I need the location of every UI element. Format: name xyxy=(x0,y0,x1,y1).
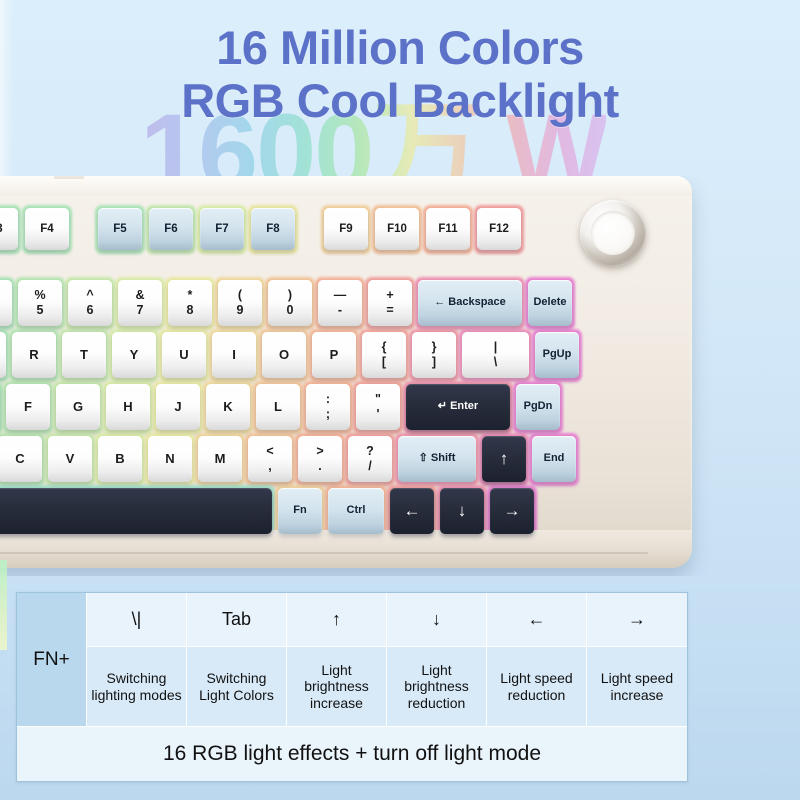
key-y[interactable]: Y xyxy=(112,332,156,378)
key-f8[interactable]: F8 xyxy=(251,208,295,250)
fn-key-arrow-up: ↑ xyxy=(287,593,387,647)
key-minus[interactable]: —- xyxy=(318,280,362,326)
key-equals[interactable]: += xyxy=(368,280,412,326)
key-f9[interactable]: F9 xyxy=(324,208,368,250)
keyboard-case: F3 F4 F5 F6 F7 F8 F9 F10 F11 F12 $4 %5 ^… xyxy=(0,176,692,568)
fn-desc-light-colors: Switching Light Colors xyxy=(187,647,287,727)
key-legend-bottom: = xyxy=(386,304,393,317)
key-end[interactable]: End xyxy=(532,436,576,482)
key-legend-bottom: 8 xyxy=(187,304,194,317)
key-0[interactable]: )0 xyxy=(268,280,312,326)
key-v[interactable]: V xyxy=(48,436,92,482)
key-f3[interactable]: F3 xyxy=(0,208,18,250)
case-top-lip xyxy=(0,176,692,196)
key-legend-top: | xyxy=(494,341,498,354)
fn-shortcut-table: FN+ \| Tab ↑ ↓ ← → Switching lighting mo… xyxy=(16,592,688,782)
keyboard-row-qwerty: E R T Y U I O P {[ }] |\ PgUp xyxy=(0,332,579,378)
key-g[interactable]: G xyxy=(56,384,100,430)
rgb-edge-glow xyxy=(0,560,7,650)
key-bracket-left[interactable]: {[ xyxy=(362,332,406,378)
key-legend-bottom: 6 xyxy=(87,304,94,317)
key-legend-top: & xyxy=(135,289,144,302)
key-period[interactable]: >. xyxy=(298,436,342,482)
key-comma[interactable]: <, xyxy=(248,436,292,482)
key-f[interactable]: F xyxy=(6,384,50,430)
keyboard-row-bottom-letters: X C V B N M <, >. ?/ ⇧ Shift ↑ End xyxy=(0,436,576,482)
key-n[interactable]: N xyxy=(148,436,192,482)
key-r[interactable]: R xyxy=(12,332,56,378)
hero-banner: 1600万 W 16 Million Colors RGB Cool Backl… xyxy=(0,0,800,185)
key-backslash[interactable]: |\ xyxy=(462,332,529,378)
keyboard-row-space: Fn Ctrl ← ↓ → xyxy=(0,488,534,534)
key-legend-top: ) xyxy=(288,289,292,302)
key-legend-top: — xyxy=(334,289,347,302)
key-f6[interactable]: F6 xyxy=(149,208,193,250)
key-k[interactable]: K xyxy=(206,384,250,430)
key-quote[interactable]: "' xyxy=(356,384,400,430)
key-5[interactable]: %5 xyxy=(18,280,62,326)
fn-table-footer: 16 RGB light effects + turn off light mo… xyxy=(17,727,687,781)
key-9[interactable]: (9 xyxy=(218,280,262,326)
key-fn[interactable]: Fn xyxy=(278,488,322,534)
page-title: 16 Million Colors RGB Cool Backlight xyxy=(0,0,800,127)
key-legend-bottom: / xyxy=(368,460,371,473)
key-space[interactable] xyxy=(0,488,272,534)
case-seam xyxy=(0,552,648,554)
key-pgdn[interactable]: PgDn xyxy=(516,384,560,430)
fn-label-cell: FN+ xyxy=(17,593,87,727)
key-u[interactable]: U xyxy=(162,332,206,378)
fn-desc-speed-reduction: Light speed reduction xyxy=(487,647,587,727)
key-b[interactable]: B xyxy=(98,436,142,482)
key-legend-top: * xyxy=(188,289,193,302)
key-legend-bottom: 0 xyxy=(287,304,294,317)
key-c[interactable]: C xyxy=(0,436,42,482)
key-legend-bottom: [ xyxy=(382,356,386,369)
fn-desc-lighting-modes: Switching lighting modes xyxy=(87,647,187,727)
key-legend-bottom: \ xyxy=(494,356,497,369)
key-legend-bottom: 9 xyxy=(237,304,244,317)
key-legend-bottom: 7 xyxy=(137,304,144,317)
key-legend-bottom: . xyxy=(318,460,321,473)
usb-port-nub xyxy=(54,176,84,179)
key-legend-bottom: , xyxy=(268,460,271,473)
key-e[interactable]: E xyxy=(0,332,6,378)
volume-knob[interactable] xyxy=(580,200,646,266)
key-t[interactable]: T xyxy=(62,332,106,378)
key-6[interactable]: ^6 xyxy=(68,280,112,326)
key-h[interactable]: H xyxy=(106,384,150,430)
key-legend-top: ( xyxy=(238,289,242,302)
fn-desc-speed-increase: Light speed increase xyxy=(587,647,687,727)
keyboard-image: F3 F4 F5 F6 F7 F8 F9 F10 F11 F12 $4 %5 ^… xyxy=(0,176,800,576)
keyboard-row-home: D F G H J K L :; "' ↵ Enter PgDn xyxy=(0,384,560,430)
key-pgup[interactable]: PgUp xyxy=(535,332,579,378)
key-legend-top: } xyxy=(432,341,437,354)
key-f10[interactable]: F10 xyxy=(375,208,419,250)
key-j[interactable]: J xyxy=(156,384,200,430)
key-m[interactable]: M xyxy=(198,436,242,482)
key-arrow-left[interactable]: ← xyxy=(390,488,434,534)
fn-key-backslash: \| xyxy=(87,593,187,647)
key-f7[interactable]: F7 xyxy=(200,208,244,250)
key-backspace[interactable]: ← Backspace xyxy=(418,280,522,326)
key-legend-top: ^ xyxy=(86,289,93,302)
product-marketing-image: 1600万 W 16 Million Colors RGB Cool Backl… xyxy=(0,0,800,800)
key-legend-bottom: - xyxy=(338,304,342,317)
key-f12[interactable]: F12 xyxy=(477,208,521,250)
fn-key-arrow-down: ↓ xyxy=(387,593,487,647)
key-f4[interactable]: F4 xyxy=(25,208,69,250)
case-bottom-lip xyxy=(0,530,692,568)
key-legend-top: % xyxy=(34,289,45,302)
key-shift-right[interactable]: ⇧ Shift xyxy=(398,436,476,482)
key-7[interactable]: &7 xyxy=(118,280,162,326)
key-o[interactable]: O xyxy=(262,332,306,378)
key-bracket-right[interactable]: }] xyxy=(412,332,456,378)
key-legend-top: ? xyxy=(366,445,374,458)
hero-headline-line2: RGB Cool Backlight xyxy=(0,75,800,128)
key-arrow-up[interactable]: ↑ xyxy=(482,436,526,482)
key-8[interactable]: *8 xyxy=(168,280,212,326)
key-arrow-down[interactable]: ↓ xyxy=(440,488,484,534)
fn-key-arrow-right: → xyxy=(587,593,687,647)
key-legend-top: { xyxy=(382,341,387,354)
keyboard-row-number: $4 %5 ^6 &7 *8 (9 )0 —- += ← Backspace D… xyxy=(0,280,572,326)
key-legend-top: + xyxy=(386,289,393,302)
key-i[interactable]: I xyxy=(212,332,256,378)
fn-desc-brightness-increase: Light brightness increase xyxy=(287,647,387,727)
key-semicolon[interactable]: :; xyxy=(306,384,350,430)
key-delete[interactable]: Delete xyxy=(528,280,572,326)
key-f11[interactable]: F11 xyxy=(426,208,470,250)
key-legend-bottom: 5 xyxy=(37,304,44,317)
key-slash[interactable]: ?/ xyxy=(348,436,392,482)
keyboard-row-function: F3 F4 F5 F6 F7 F8 F9 F10 F11 F12 xyxy=(0,208,521,250)
fn-desc-brightness-reduction: Light brightness reduction xyxy=(387,647,487,727)
key-legend-bottom: ] xyxy=(432,356,436,369)
key-legend-top: > xyxy=(316,445,323,458)
key-4[interactable]: $4 xyxy=(0,280,12,326)
key-ctrl-right[interactable]: Ctrl xyxy=(328,488,384,534)
key-legend-bottom: ; xyxy=(326,408,330,421)
key-p[interactable]: P xyxy=(312,332,356,378)
fn-key-arrow-left: ← xyxy=(487,593,587,647)
hero-headline-line1: 16 Million Colors xyxy=(0,0,800,75)
key-legend-top: < xyxy=(266,445,273,458)
fn-key-tab: Tab xyxy=(187,593,287,647)
key-l[interactable]: L xyxy=(256,384,300,430)
key-legend-top: : xyxy=(326,393,330,406)
key-f5[interactable]: F5 xyxy=(98,208,142,250)
key-arrow-right[interactable]: → xyxy=(490,488,534,534)
key-legend-bottom: ' xyxy=(377,408,380,421)
key-enter[interactable]: ↵ Enter xyxy=(406,384,510,430)
key-legend-top: " xyxy=(375,393,381,406)
